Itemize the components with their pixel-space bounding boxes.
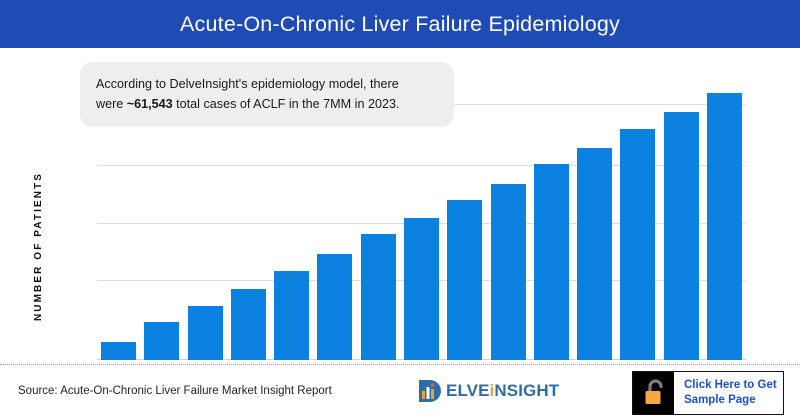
cta-line-1: Click Here to Get [684, 378, 783, 393]
bar [144, 322, 179, 360]
y-axis-title-label: NUMBER OF PATIENTS [34, 171, 45, 320]
bar [361, 234, 396, 360]
bar [188, 306, 223, 360]
header-banner: Acute-On-Chronic Liver Failure Epidemiol… [0, 0, 800, 48]
sample-page-cta-button[interactable]: Click Here to Get Sample Page [632, 371, 784, 415]
padlock-svg [640, 376, 674, 410]
bar [101, 342, 136, 360]
bar [620, 129, 655, 360]
bar [707, 93, 742, 360]
bar [404, 218, 439, 360]
callout-line-2: were ~61,543 total cases of ACLF in the … [96, 94, 436, 114]
bar [447, 200, 482, 360]
bar [534, 164, 569, 360]
logo-text-end: NSIGHT [494, 381, 559, 400]
bar [274, 271, 309, 360]
bar [664, 112, 699, 361]
cta-line-2: Sample Page [684, 393, 783, 408]
callout-line-1: According to DelveInsight's epidemiology… [96, 74, 436, 94]
bar [491, 184, 526, 360]
callout-suffix: total cases of ACLF in the 7MM in 2023. [173, 97, 400, 111]
cta-text-wrapper[interactable]: Click Here to Get Sample Page [674, 372, 783, 414]
delveinsight-logo-text: ELVEiNSIGHT [446, 382, 559, 399]
y-axis-title: NUMBER OF PATIENTS [30, 156, 48, 336]
logo-bars-icon [418, 378, 445, 403]
callout-value: ~61,543 [127, 97, 173, 111]
bar [577, 148, 612, 360]
delveinsight-logo: ELVEiNSIGHT [418, 378, 559, 403]
source-text: Source: Acute-On-Chronic Liver Failure M… [18, 385, 332, 397]
bar [317, 254, 352, 361]
callout-prefix: were [96, 97, 127, 111]
open-padlock-icon [640, 376, 674, 410]
infographic-page: Acute-On-Chronic Liver Failure Epidemiol… [0, 0, 800, 420]
bar [231, 289, 266, 360]
page-title: Acute-On-Chronic Liver Failure Epidemiol… [180, 12, 620, 37]
logo-text-main: ELVE [446, 381, 490, 400]
callout-box: According to DelveInsight's epidemiology… [80, 62, 454, 127]
delveinsight-logo-mark [418, 378, 445, 403]
